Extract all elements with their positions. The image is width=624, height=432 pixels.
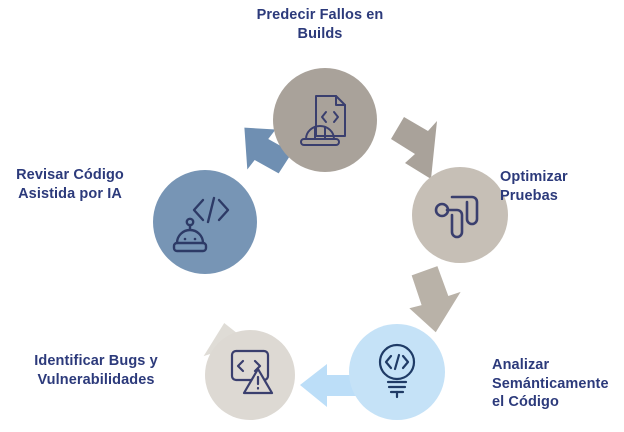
node-circle-analizar-semanticamente[interactable] — [349, 324, 445, 420]
node-label-analizar-semanticamente: Analizar Semánticamente el Código — [492, 356, 624, 412]
node-analizar-semanticamente[interactable] — [349, 324, 445, 420]
node-circle-revisar-codigo-ia[interactable] — [153, 170, 257, 274]
diagram-canvas: Predecir Fallos en Builds Optimizar Prue… — [0, 0, 624, 432]
node-label-identificar-bugs: Identificar Bugs y Vulnerabilidades — [4, 352, 188, 389]
arrow-top-to-right — [391, 117, 437, 179]
node-label-revisar-codigo-ia: Revisar Código Asistida por IA — [2, 166, 138, 203]
node-circle-identificar-bugs[interactable] — [205, 330, 295, 420]
arrow-bottomright-to-bottomleft — [300, 364, 356, 407]
node-label-predecir-fallos: Predecir Fallos en Builds — [200, 6, 440, 43]
arrow-right-to-bottomright — [408, 264, 462, 333]
node-circle-optimizar-pruebas[interactable] — [412, 167, 508, 263]
node-label-optimizar-pruebas: Optimizar Pruebas — [500, 168, 620, 205]
node-optimizar-pruebas[interactable] — [412, 167, 508, 263]
node-revisar-codigo-ia[interactable] — [153, 170, 257, 274]
node-identificar-bugs[interactable] — [205, 330, 295, 420]
node-predecir-fallos[interactable] — [273, 68, 377, 172]
